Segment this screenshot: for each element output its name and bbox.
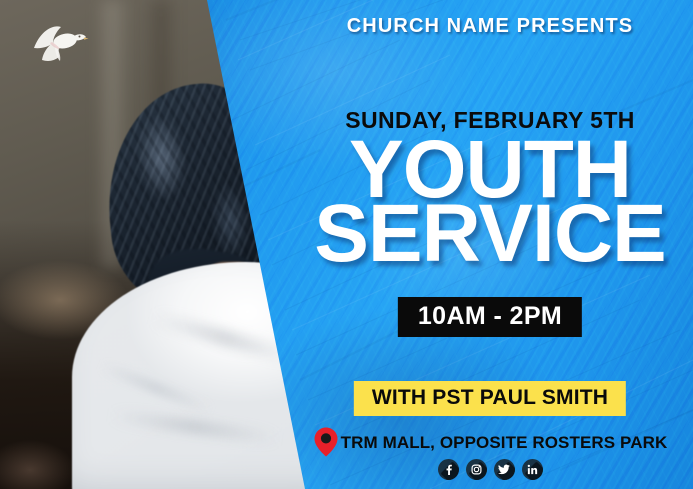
church-name-presents: CHURCH NAME PRESENTS	[287, 15, 693, 38]
venue-row: TRM MALL, OPPOSITE ROSTERS PARK	[287, 428, 693, 458]
dove-icon	[28, 18, 90, 74]
youth-service-flyer: CHURCH NAME PRESENTS SUNDAY, FEBRUARY 5T…	[0, 0, 693, 489]
flyer-content: CHURCH NAME PRESENTS SUNDAY, FEBRUARY 5T…	[287, 0, 693, 489]
instagram-icon[interactable]	[466, 459, 487, 480]
event-time-badge: 10AM - 2PM	[398, 297, 582, 337]
linkedin-icon[interactable]	[522, 459, 543, 480]
venue-text: TRM MALL, OPPOSITE ROSTERS PARK	[341, 433, 668, 453]
twitter-icon[interactable]	[494, 459, 515, 480]
facebook-icon[interactable]	[438, 459, 459, 480]
social-links	[287, 459, 693, 480]
event-title-line-2: SERVICE	[287, 200, 693, 269]
map-pin-icon	[313, 426, 339, 458]
speaker-badge: WITH PST PAUL SMITH	[354, 381, 626, 416]
